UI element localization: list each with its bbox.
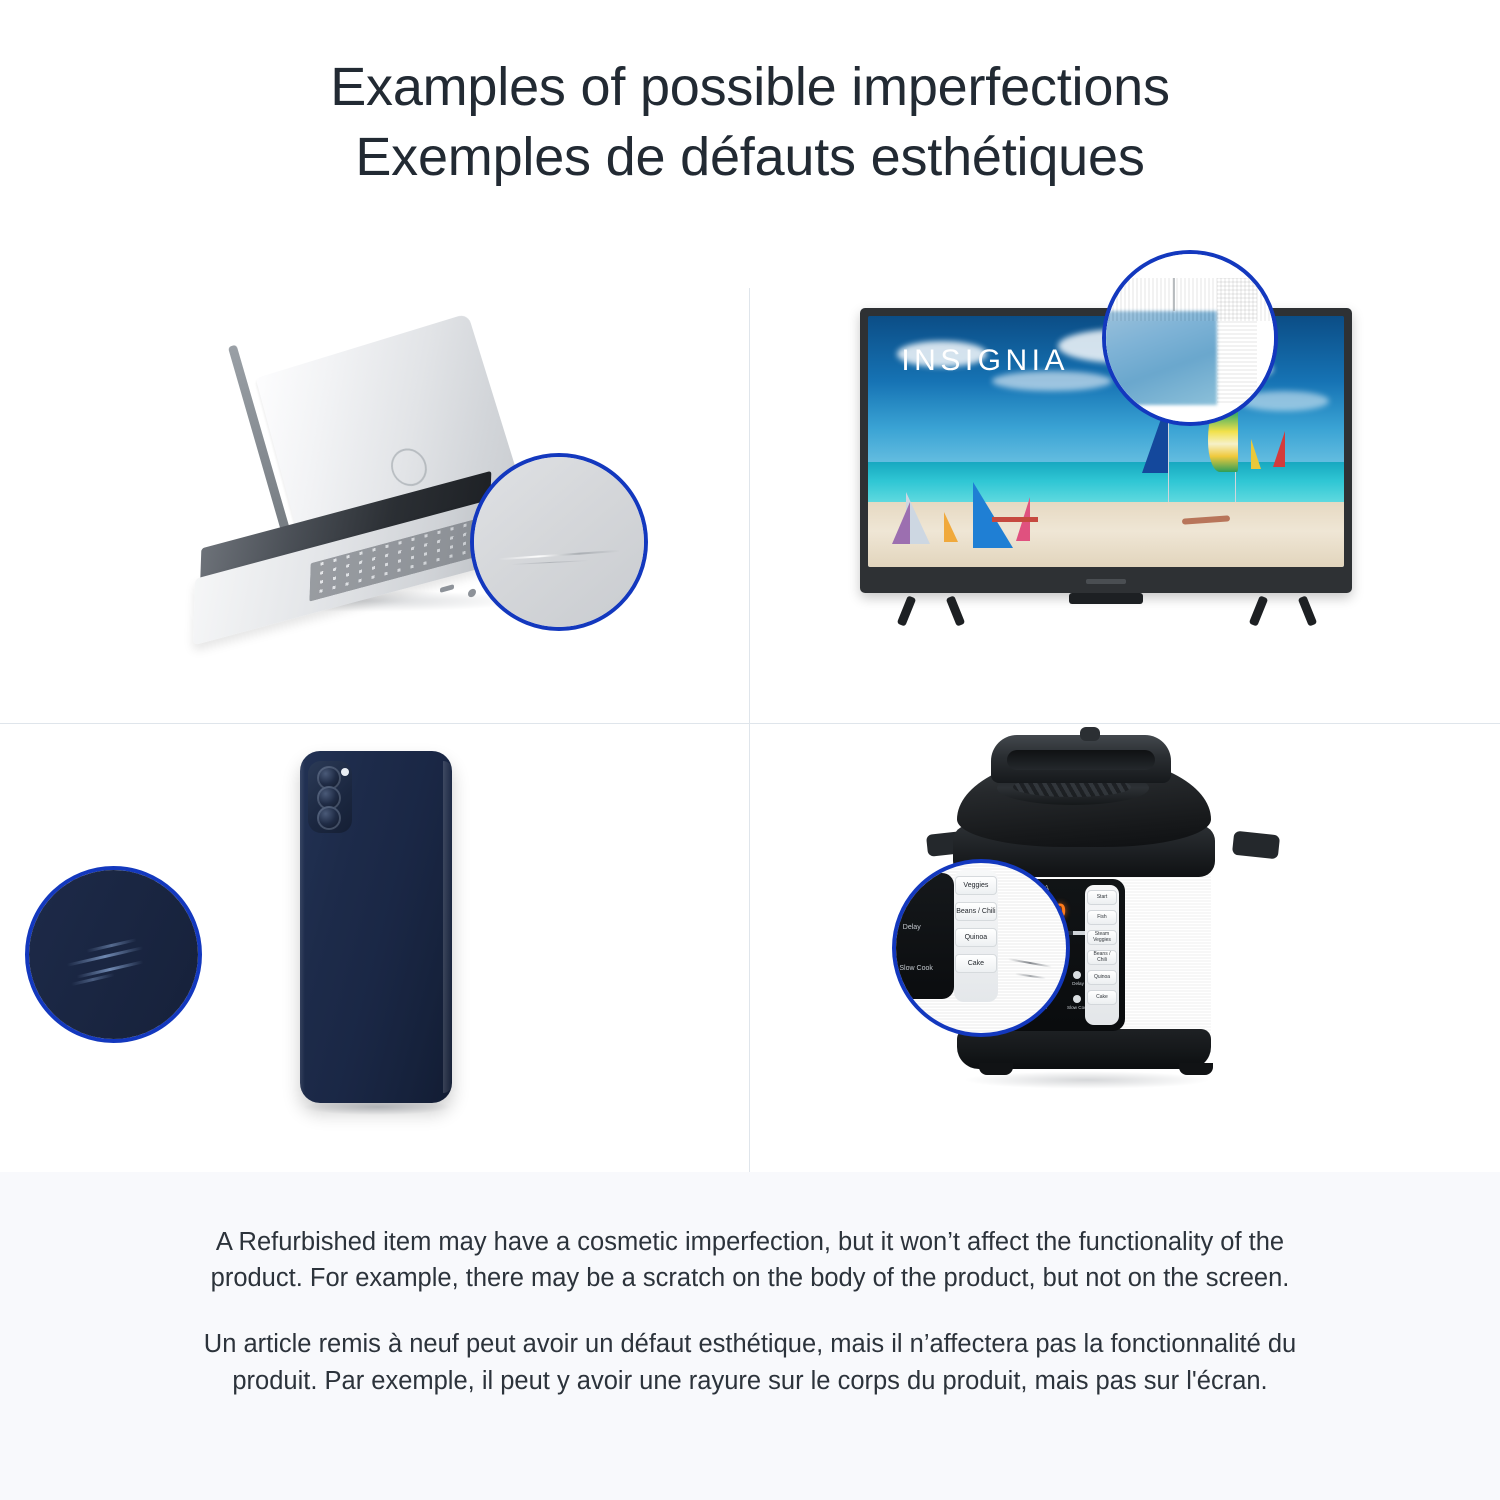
circle-magnifier-tv	[1102, 250, 1278, 426]
cooker-key-cake[interactable]: Cake	[1087, 990, 1117, 1005]
cooker-key-start[interactable]: Start	[1087, 890, 1117, 905]
cooker-key-steam-veggies[interactable]: Steam Veggies	[1087, 930, 1117, 945]
circle-magnifier-laptop	[470, 453, 648, 631]
tv-scene-kite	[992, 517, 1038, 522]
cooker-zoom-key-quinoa: Quinoa	[955, 928, 997, 947]
cooker-zoom-panel-label: Delay	[903, 924, 921, 931]
cooker-scratch-mark-secondary	[1015, 973, 1046, 979]
page-title-french: Exemples de défauts esthétiques	[355, 128, 1144, 186]
circle-magnifier-phone	[25, 866, 202, 1043]
tv-leg-left	[900, 596, 962, 626]
tv-scene-sand	[868, 502, 1344, 567]
page-title-english: Examples of possible imperfections	[330, 58, 1170, 116]
tv-scene-sail-red	[1273, 431, 1285, 467]
tv-brand-wordmark: INSIGNIA	[901, 344, 1069, 378]
cooker-foot	[979, 1063, 1013, 1075]
header: Examples of possible imperfections Exemp…	[0, 0, 1500, 250]
grid-cell-laptop	[0, 250, 750, 711]
cooker-zoom-key-veggies: Veggies	[955, 876, 997, 895]
cooker-zoom-key-cake: Cake	[955, 954, 997, 973]
tv-bezel-scuff-mark	[1173, 278, 1175, 312]
tv-scene-kite	[973, 482, 1013, 548]
description-paragraph-english: A Refurbished item may have a cosmetic i…	[185, 1224, 1315, 1296]
tv-bottom-logo	[1086, 579, 1126, 584]
tv-stand-bar	[1069, 593, 1143, 604]
tv-scene-kite	[892, 502, 910, 544]
tv-zoom-bezel-right	[1217, 278, 1257, 406]
grid-cell-phone	[0, 711, 750, 1172]
phone-camera-lens	[317, 806, 341, 830]
tv-leg-right	[1252, 596, 1314, 626]
phone-camera-module	[308, 761, 352, 833]
tv-scene-sail-yellow	[1251, 439, 1261, 469]
tv-scene-kite	[944, 512, 958, 542]
tv-scene-sea	[868, 462, 1344, 505]
cooker-lid-handle	[991, 735, 1171, 783]
circle-magnifier-cooker: Delay Slow Cook Veggies Beans / Chili Qu…	[892, 859, 1070, 1037]
cooker-zoom-key-beans-chili: Beans / Chili	[955, 902, 997, 921]
cooker-panel-button[interactable]	[1073, 971, 1081, 979]
cooker-foot	[1179, 1063, 1213, 1075]
cooker-zoom-panel	[892, 873, 954, 999]
cooker-zoom-surface: Delay Slow Cook Veggies Beans / Chili Qu…	[896, 863, 1066, 1033]
cooker-pressure-valve-knob	[1080, 727, 1100, 741]
phone-flash-icon	[341, 768, 349, 776]
cooker-key-fish[interactable]: Fish	[1087, 910, 1117, 925]
cooker-side-handle-right	[1232, 831, 1280, 860]
cooker-right-button-column[interactable]: Start Fish Steam Veggies Beans / Chili Q…	[1085, 885, 1119, 1025]
product-example-grid: INSIGNIA	[0, 250, 1500, 1172]
refurbished-imperfections-infographic: Examples of possible imperfections Exemp…	[0, 0, 1500, 1500]
phone-illustration	[300, 751, 470, 1123]
grid-cell-pressure-cooker: Canned Rice Slow Cook Soup Slow Cook Reh…	[750, 711, 1500, 1172]
cooker-key-quinoa[interactable]: Quinoa	[1087, 970, 1117, 985]
laptop-scratch-mark	[498, 550, 620, 561]
cooker-scratch-mark	[1008, 958, 1052, 968]
tv-zoom-screen-pane	[1102, 311, 1217, 405]
laptop-scratch-mark-secondary	[511, 560, 589, 565]
description-paragraph-french: Un article remis à neuf peut avoir un dé…	[185, 1326, 1315, 1398]
cooker-panel-button[interactable]	[1073, 995, 1081, 1003]
phone-zoom-surface	[29, 870, 198, 1039]
cooker-zoom-panel-label: Slow Cook	[899, 965, 932, 972]
cooker-key-beans-chili[interactable]: Beans / Chili	[1087, 950, 1117, 965]
cooker-zoom-keys: Veggies Beans / Chili Quinoa Cake	[954, 870, 998, 1003]
laptop-zoom-surface	[474, 457, 644, 627]
phone-back-panel	[300, 751, 452, 1103]
tv-zoom-surface	[1106, 254, 1274, 422]
footer-description: A Refurbished item may have a cosmetic i…	[0, 1172, 1500, 1500]
grid-cell-tv: INSIGNIA	[750, 250, 1500, 711]
